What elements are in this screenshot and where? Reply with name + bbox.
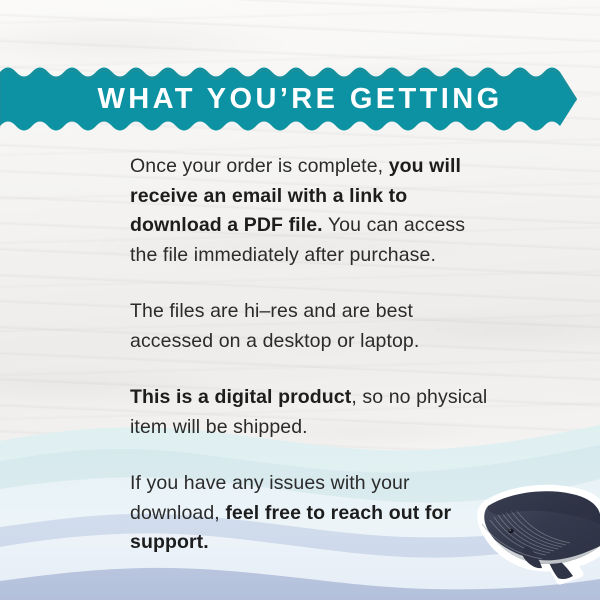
paragraph-p3: This is a digital product, so no physica…: [130, 383, 490, 442]
blue-whale-icon: [476, 484, 600, 586]
text-run-p1-0: Once your order is complete,: [130, 155, 389, 177]
paragraph-p1: Once your order is complete, you will re…: [130, 152, 490, 270]
whale-eye: [508, 529, 513, 533]
text-run-p3-0: This is a digital product: [130, 386, 351, 408]
whale-eye-highlight: [509, 530, 511, 531]
paragraph-p4: If you have any issues with your downloa…: [130, 469, 490, 558]
info-card: WHAT YOU’RE GETTING: [0, 0, 600, 600]
banner-title: WHAT YOU’RE GETTING: [0, 63, 600, 135]
banner-title-text: WHAT YOU’RE GETTING: [97, 83, 502, 116]
text-run-p2-0: The files are hi–res and are best access…: [130, 300, 419, 352]
body-copy: Once your order is complete, you will re…: [130, 152, 490, 558]
whale-illustration: [476, 484, 600, 586]
paragraph-p2: The files are hi–res and are best access…: [130, 297, 490, 356]
